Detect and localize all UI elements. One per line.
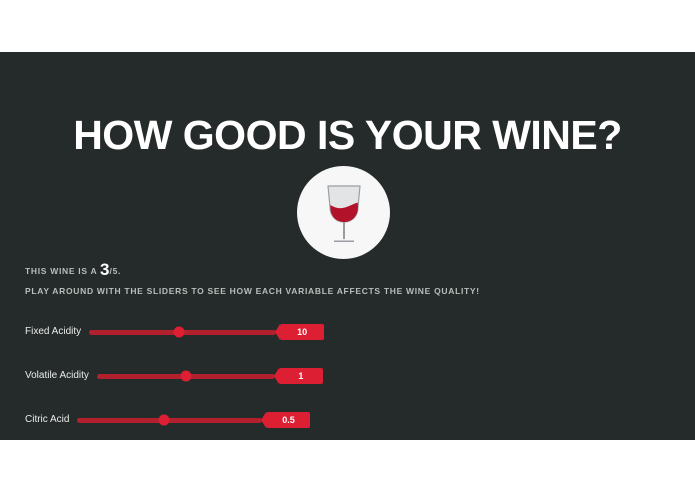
slider-track-citric-acid[interactable] xyxy=(77,418,262,423)
score-suffix: /5. xyxy=(110,266,122,276)
slider-track-wrap-citric-acid[interactable] xyxy=(77,410,262,430)
slider-value-citric-acid: 0.5 xyxy=(266,412,310,428)
slider-track-volatile-acidity[interactable] xyxy=(97,374,275,379)
slider-track-fixed-acidity[interactable] xyxy=(89,330,276,335)
hint-line: PLAY AROUND WITH THE SLIDERS TO SEE HOW … xyxy=(25,285,480,297)
slider-thumb-citric-acid[interactable] xyxy=(159,415,170,426)
wine-glass-icon xyxy=(318,182,370,244)
slider-thumb-fixed-acidity[interactable] xyxy=(173,327,184,338)
score-value: 3 xyxy=(100,260,109,279)
slider-label-volatile-acidity: Volatile Acidity xyxy=(25,366,89,386)
slider-track-wrap-fixed-acidity[interactable] xyxy=(89,322,276,342)
score-line: THIS WINE IS A 3/5. xyxy=(25,264,121,277)
slider-label-citric-acid: Citric Acid xyxy=(25,410,69,430)
slider-row-volatile-acidity[interactable]: Volatile Acidity 1 xyxy=(25,366,323,386)
score-prefix: THIS WINE IS A xyxy=(25,266,100,276)
app-root: HOW GOOD IS YOUR WINE? THIS WINE IS A 3/… xyxy=(0,0,695,494)
slider-row-fixed-acidity[interactable]: Fixed Acidity 10 xyxy=(25,322,324,342)
slider-row-citric-acid[interactable]: Citric Acid 0.5 xyxy=(25,410,310,430)
dark-panel: HOW GOOD IS YOUR WINE? THIS WINE IS A 3/… xyxy=(0,52,695,440)
slider-value-volatile-acidity: 1 xyxy=(279,368,323,384)
page-title: HOW GOOD IS YOUR WINE? xyxy=(0,115,695,156)
slider-value-fixed-acidity: 10 xyxy=(280,324,324,340)
slider-track-wrap-volatile-acidity[interactable] xyxy=(97,366,275,386)
slider-thumb-volatile-acidity[interactable] xyxy=(180,371,191,382)
slider-label-fixed-acidity: Fixed Acidity xyxy=(25,322,81,342)
wine-glass-badge xyxy=(297,166,390,259)
